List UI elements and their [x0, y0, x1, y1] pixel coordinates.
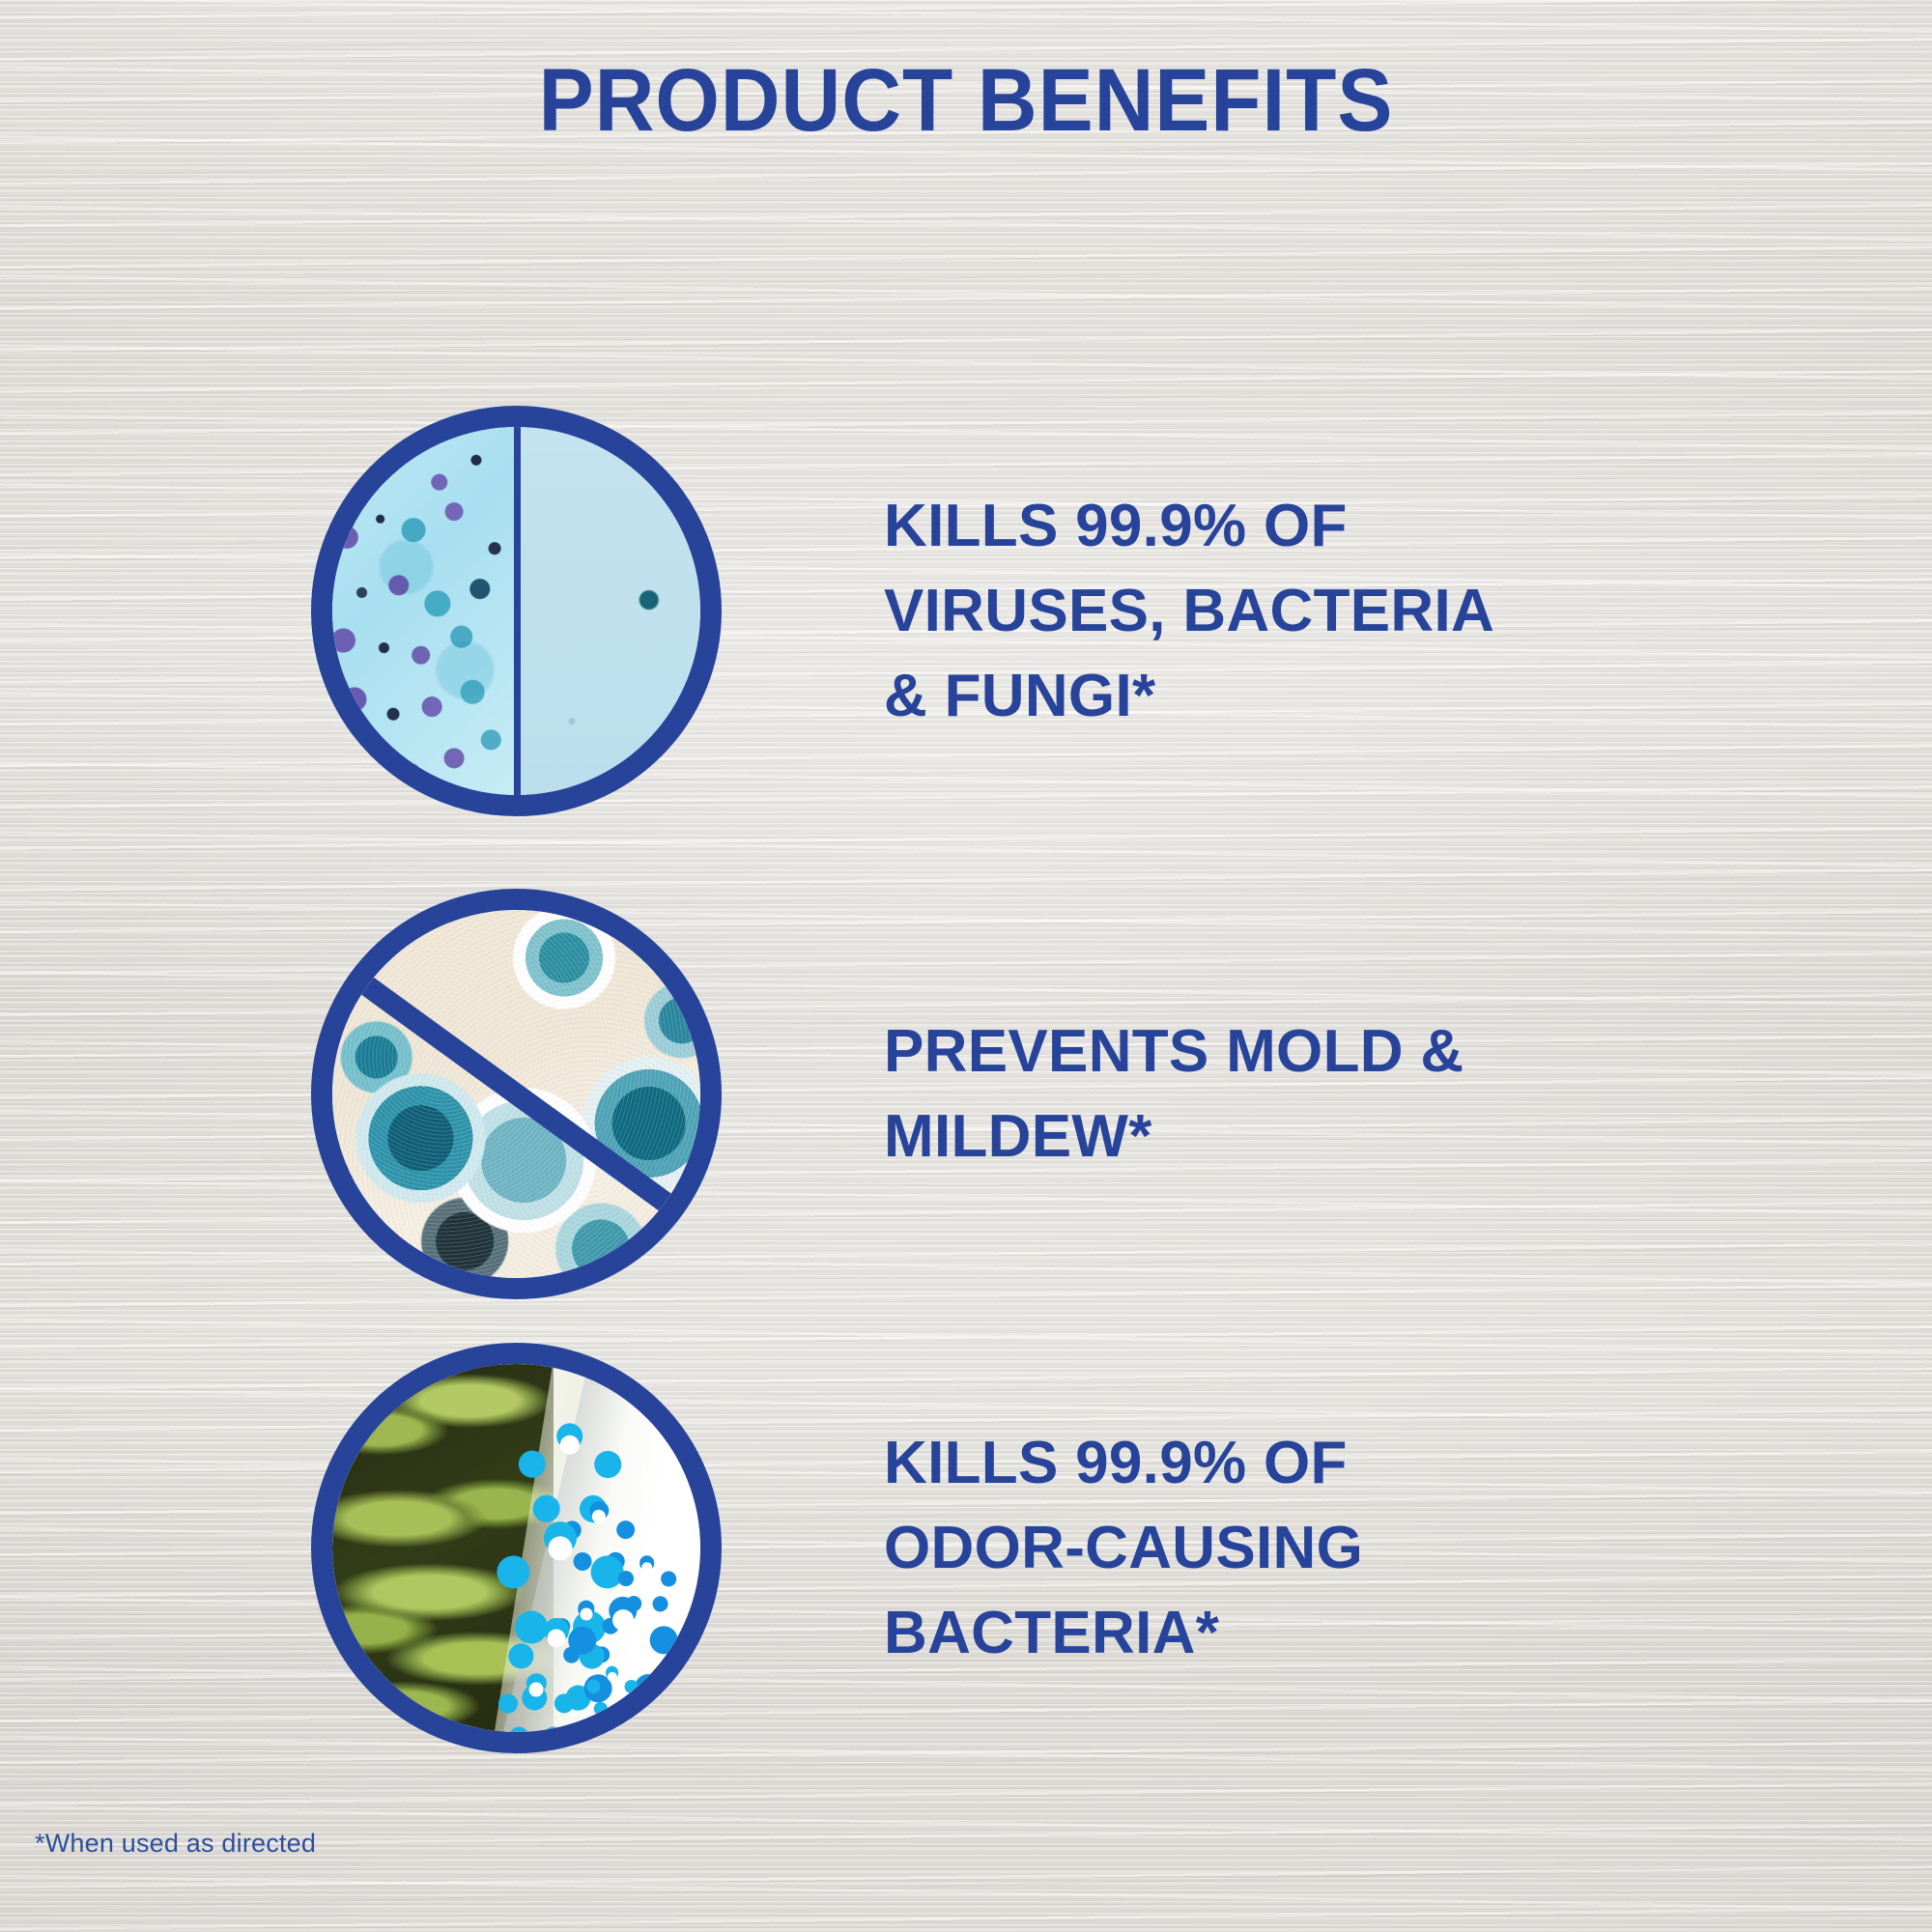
no-mold-mildew-icon	[311, 889, 722, 1299]
divider-line	[514, 427, 521, 795]
flower-icon	[515, 1668, 557, 1711]
flower-icon	[598, 1662, 627, 1691]
benefit-line: VIRUSES, BACTERIA	[884, 568, 1753, 653]
flower-icon	[541, 1416, 599, 1474]
clean-side	[517, 427, 701, 795]
page-title: PRODUCT BENEFITS	[68, 56, 1864, 145]
benefit-row-1: KILLS 99.9% OF VIRUSES, BACTERIA & FUNGI…	[0, 406, 1932, 816]
benefit-line: KILLS 99.9% OF	[884, 1420, 1753, 1505]
benefit-line: ODOR-CAUSING	[884, 1505, 1753, 1590]
benefit-line: PREVENTS MOLD &	[884, 1009, 1753, 1094]
benefit-line: MILDEW*	[884, 1094, 1753, 1179]
flower-icon	[592, 1589, 654, 1651]
benefit-text-3: KILLS 99.9% OF ODOR-CAUSING BACTERIA*	[884, 1420, 1753, 1675]
flower-icon	[525, 1513, 596, 1584]
benefit-row-2: PREVENTS MOLD & MILDEW*	[0, 889, 1932, 1299]
germs-side	[332, 427, 517, 795]
benefit-line: BACTERIA*	[884, 1591, 1753, 1676]
split-petri-dish-germs-icon	[311, 406, 722, 816]
benefit-text-2: PREVENTS MOLD & MILDEW*	[884, 1009, 1753, 1179]
odor-bacteria-to-fresh-icon	[311, 1343, 722, 1753]
benefit-line: & FUNGI*	[884, 654, 1753, 739]
benefit-row-3: KILLS 99.9% OF ODOR-CAUSING BACTERIA*	[0, 1343, 1932, 1753]
benefit-line: KILLS 99.9% OF	[884, 483, 1753, 568]
footnote: *When used as directed	[35, 1829, 316, 1859]
flower-icon	[631, 1551, 664, 1584]
benefit-text-1: KILLS 99.9% OF VIRUSES, BACTERIA & FUNGI…	[884, 483, 1753, 738]
benefits-panel: PRODUCT BENEFITS KILLS 99.9% OF VIRUSES,…	[0, 0, 1932, 1932]
